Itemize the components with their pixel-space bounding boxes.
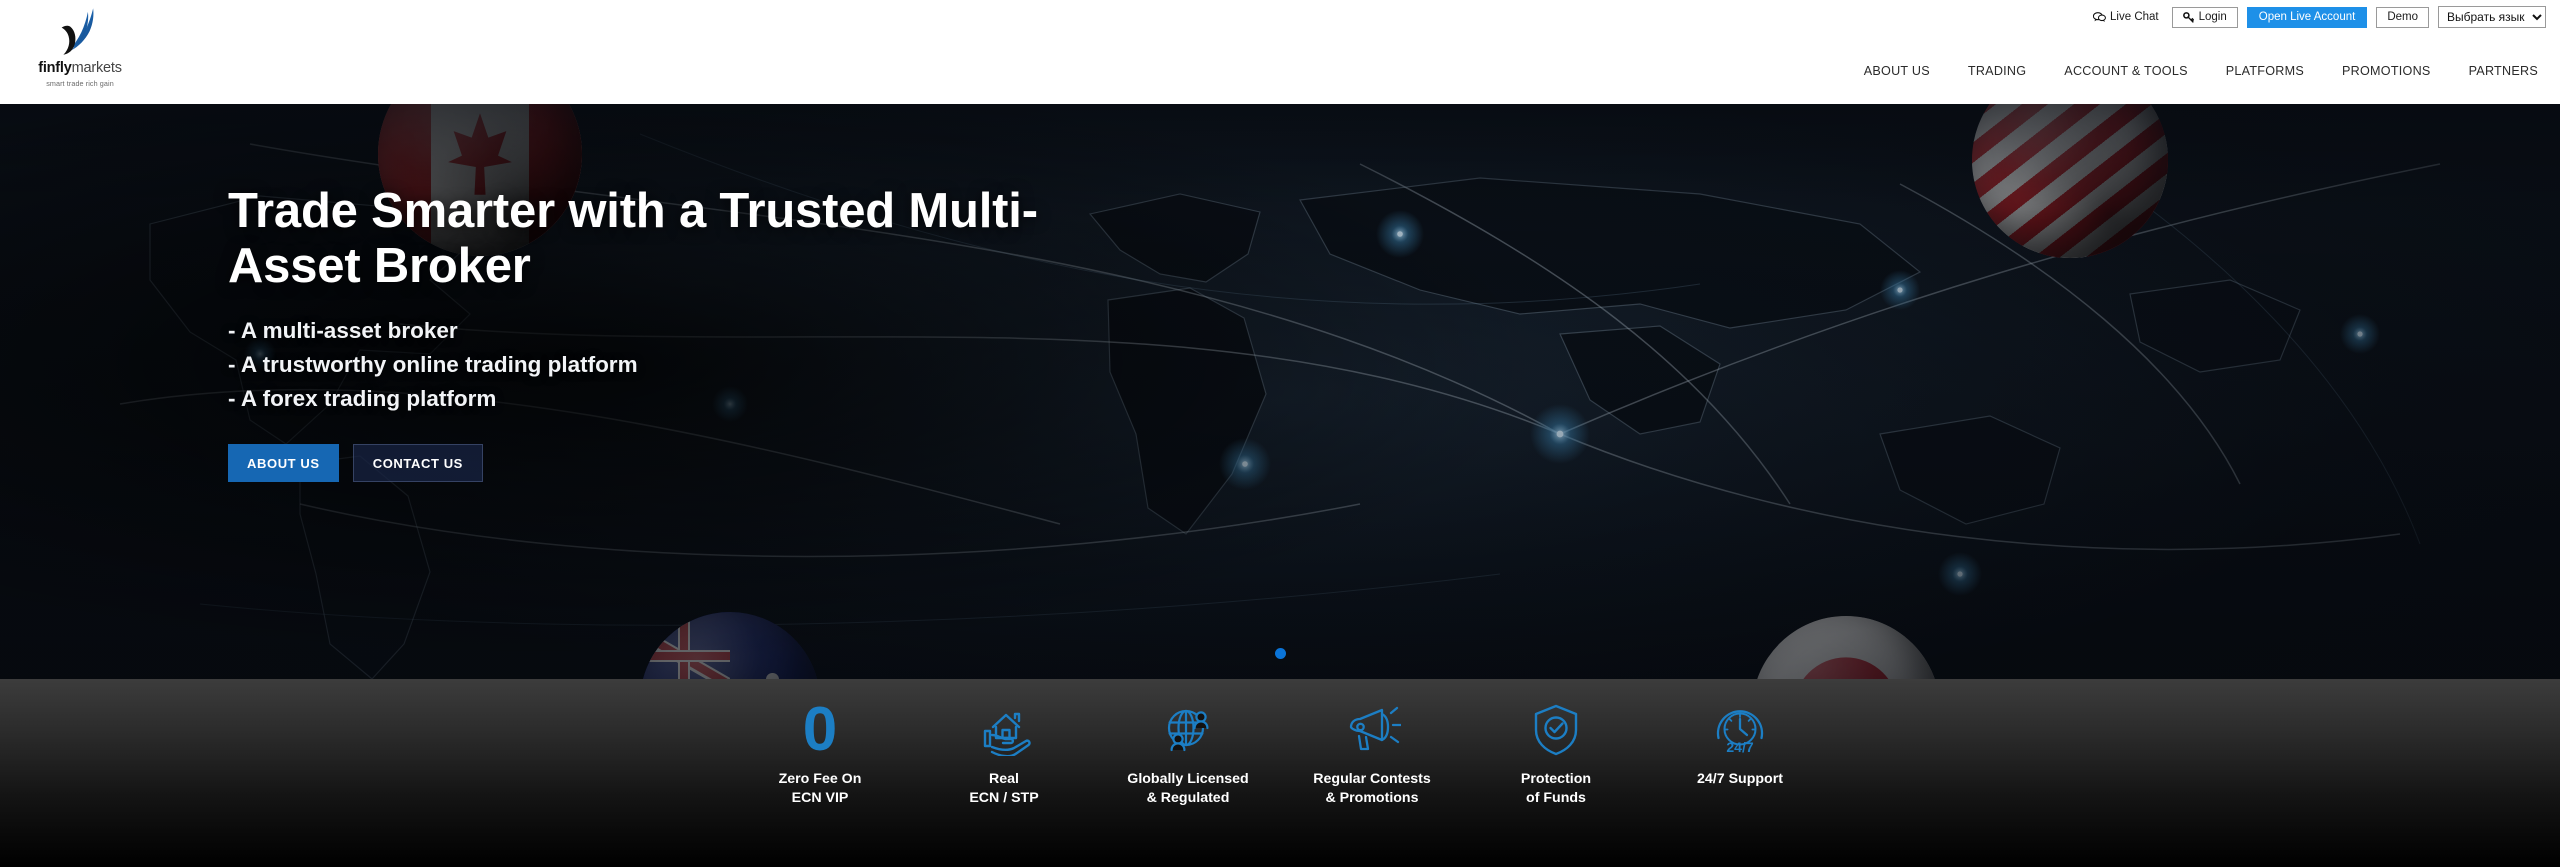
- hero-contact-us-button[interactable]: CONTACT US: [353, 444, 483, 482]
- hero-cta-group: ABOUT US CONTACT US: [228, 444, 1128, 482]
- hero-bullet-item: - A trustworthy online trading platform: [228, 348, 1128, 382]
- feature-24-7-support[interactable]: 24/7 24/7 Support: [1648, 701, 1832, 789]
- svg-text:24/7: 24/7: [1726, 739, 1753, 755]
- feature-globally-licensed[interactable]: Globally Licensed & Regulated: [1096, 701, 1280, 807]
- shield-check-icon: [1531, 703, 1581, 757]
- megaphone-icon: [1343, 705, 1401, 755]
- brand-tagline: smart trade rich gain: [46, 79, 114, 88]
- nav-item-partners[interactable]: PARTNERS: [2469, 64, 2538, 78]
- brand-logo[interactable]: finflymarkets smart trade rich gain: [26, 4, 134, 100]
- hero-title: Trade Smarter with a Trusted Multi-Asset…: [228, 184, 1128, 294]
- open-live-account-label: Open Live Account: [2259, 11, 2356, 23]
- hero-about-us-button[interactable]: ABOUT US: [228, 444, 339, 482]
- feature-label: Real ECN / STP: [969, 770, 1038, 807]
- house-in-hand-icon: [975, 704, 1033, 756]
- carousel-dot-nav: [0, 648, 2560, 659]
- feature-protection-of-funds[interactable]: Protection of Funds: [1464, 701, 1648, 807]
- zero-fee-icon: 0: [803, 701, 837, 759]
- nav-item-trading[interactable]: TRADING: [1968, 64, 2026, 78]
- demo-button[interactable]: Demo: [2376, 7, 2429, 28]
- login-label: Login: [2199, 11, 2227, 23]
- site-header: finflymarkets smart trade rich gain Live…: [0, 0, 2560, 104]
- live-chat-button[interactable]: Live Chat: [2089, 9, 2163, 25]
- feature-label: Globally Licensed & Regulated: [1127, 770, 1248, 807]
- live-chat-label: Live Chat: [2110, 11, 2159, 23]
- carousel-dot-1[interactable]: [1275, 648, 1286, 659]
- demo-label: Demo: [2387, 11, 2418, 23]
- nav-item-promotions[interactable]: PROMOTIONS: [2342, 64, 2431, 78]
- zero-fee-glyph: 0: [803, 704, 837, 757]
- feature-label: Regular Contests & Promotions: [1313, 770, 1430, 807]
- hero-content: Trade Smarter with a Trusted Multi-Asset…: [228, 184, 1128, 482]
- hero-carousel-slide: Trade Smarter with a Trusted Multi-Asset…: [0, 104, 2560, 679]
- language-select[interactable]: Выбрать язык: [2438, 6, 2546, 28]
- feature-label: Zero Fee On ECN VIP: [779, 770, 862, 807]
- features-bar: 0 Zero Fee On ECN VIP Real ECN / STP: [0, 679, 2560, 867]
- nav-item-platforms[interactable]: PLATFORMS: [2226, 64, 2304, 78]
- feature-contests-promotions[interactable]: Regular Contests & Promotions: [1280, 701, 1464, 807]
- main-navigation: ABOUT US TRADING ACCOUNT & TOOLS PLATFOR…: [1864, 64, 2538, 78]
- hero-bullet-list: - A multi-asset broker - A trustworthy o…: [228, 314, 1128, 417]
- finfly-bird-logo-icon: [52, 4, 108, 60]
- hero-bullet-item: - A multi-asset broker: [228, 314, 1128, 348]
- feature-label: Protection of Funds: [1521, 770, 1591, 807]
- key-icon: [2183, 12, 2194, 23]
- clock-247-icon: 24/7: [1713, 703, 1767, 757]
- nav-item-account-tools[interactable]: ACCOUNT & TOOLS: [2064, 64, 2187, 78]
- chat-bubble-icon: [2093, 11, 2106, 23]
- globe-people-icon: [1160, 704, 1216, 756]
- feature-label: 24/7 Support: [1697, 770, 1783, 789]
- login-button[interactable]: Login: [2172, 7, 2238, 28]
- feature-zero-fee[interactable]: 0 Zero Fee On ECN VIP: [728, 701, 912, 807]
- utility-bar: Live Chat Login Open Live Account Demo В…: [2089, 6, 2546, 28]
- brand-name: finflymarkets: [38, 61, 122, 76]
- open-live-account-button[interactable]: Open Live Account: [2247, 7, 2368, 28]
- feature-real-ecn-stp[interactable]: Real ECN / STP: [912, 701, 1096, 807]
- hero-bullet-item: - A forex trading platform: [228, 382, 1128, 416]
- nav-item-about-us[interactable]: ABOUT US: [1864, 64, 1930, 78]
- landing-page: finflymarkets smart trade rich gain Live…: [0, 0, 2560, 867]
